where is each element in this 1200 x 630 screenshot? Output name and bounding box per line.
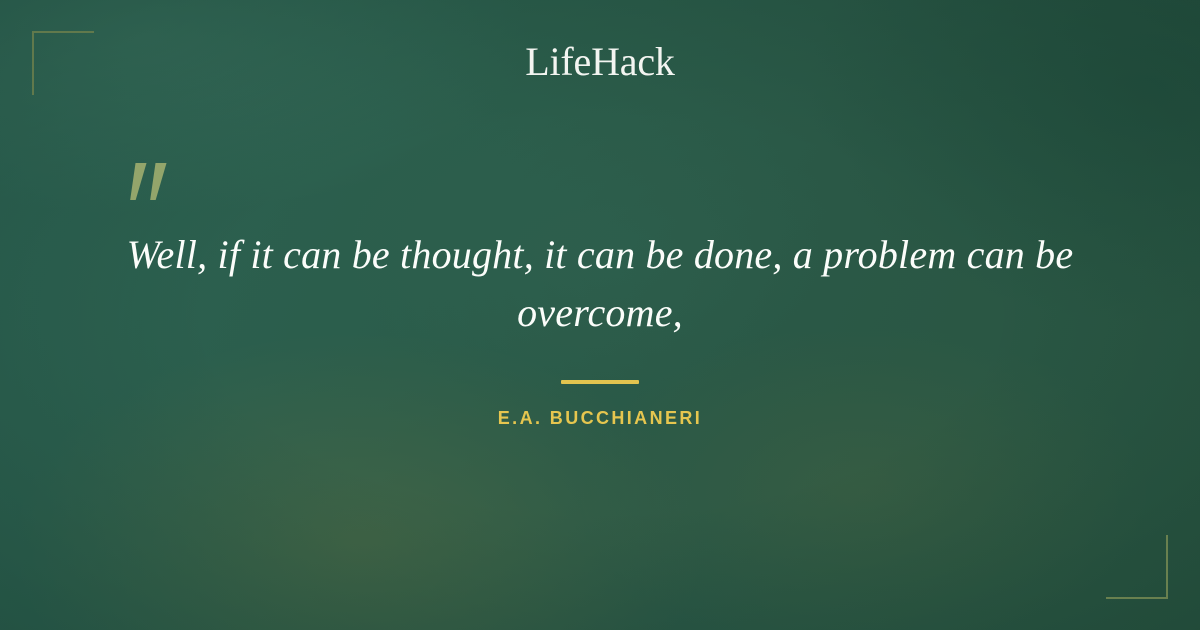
quote-text: Well, if it can be thought, it can be do…: [100, 226, 1100, 342]
quote-block: Well, if it can be thought, it can be do…: [100, 160, 1100, 429]
quote-card: LifeHack Well, if it can be thought, it …: [0, 0, 1200, 630]
corner-bracket-bottom-right-icon: [1106, 535, 1168, 599]
quote-author: E.A. BUCCHIANERI: [100, 408, 1100, 429]
double-quote-icon: [100, 160, 1100, 212]
brand-logo: LifeHack: [0, 40, 1200, 84]
divider: [561, 380, 639, 384]
